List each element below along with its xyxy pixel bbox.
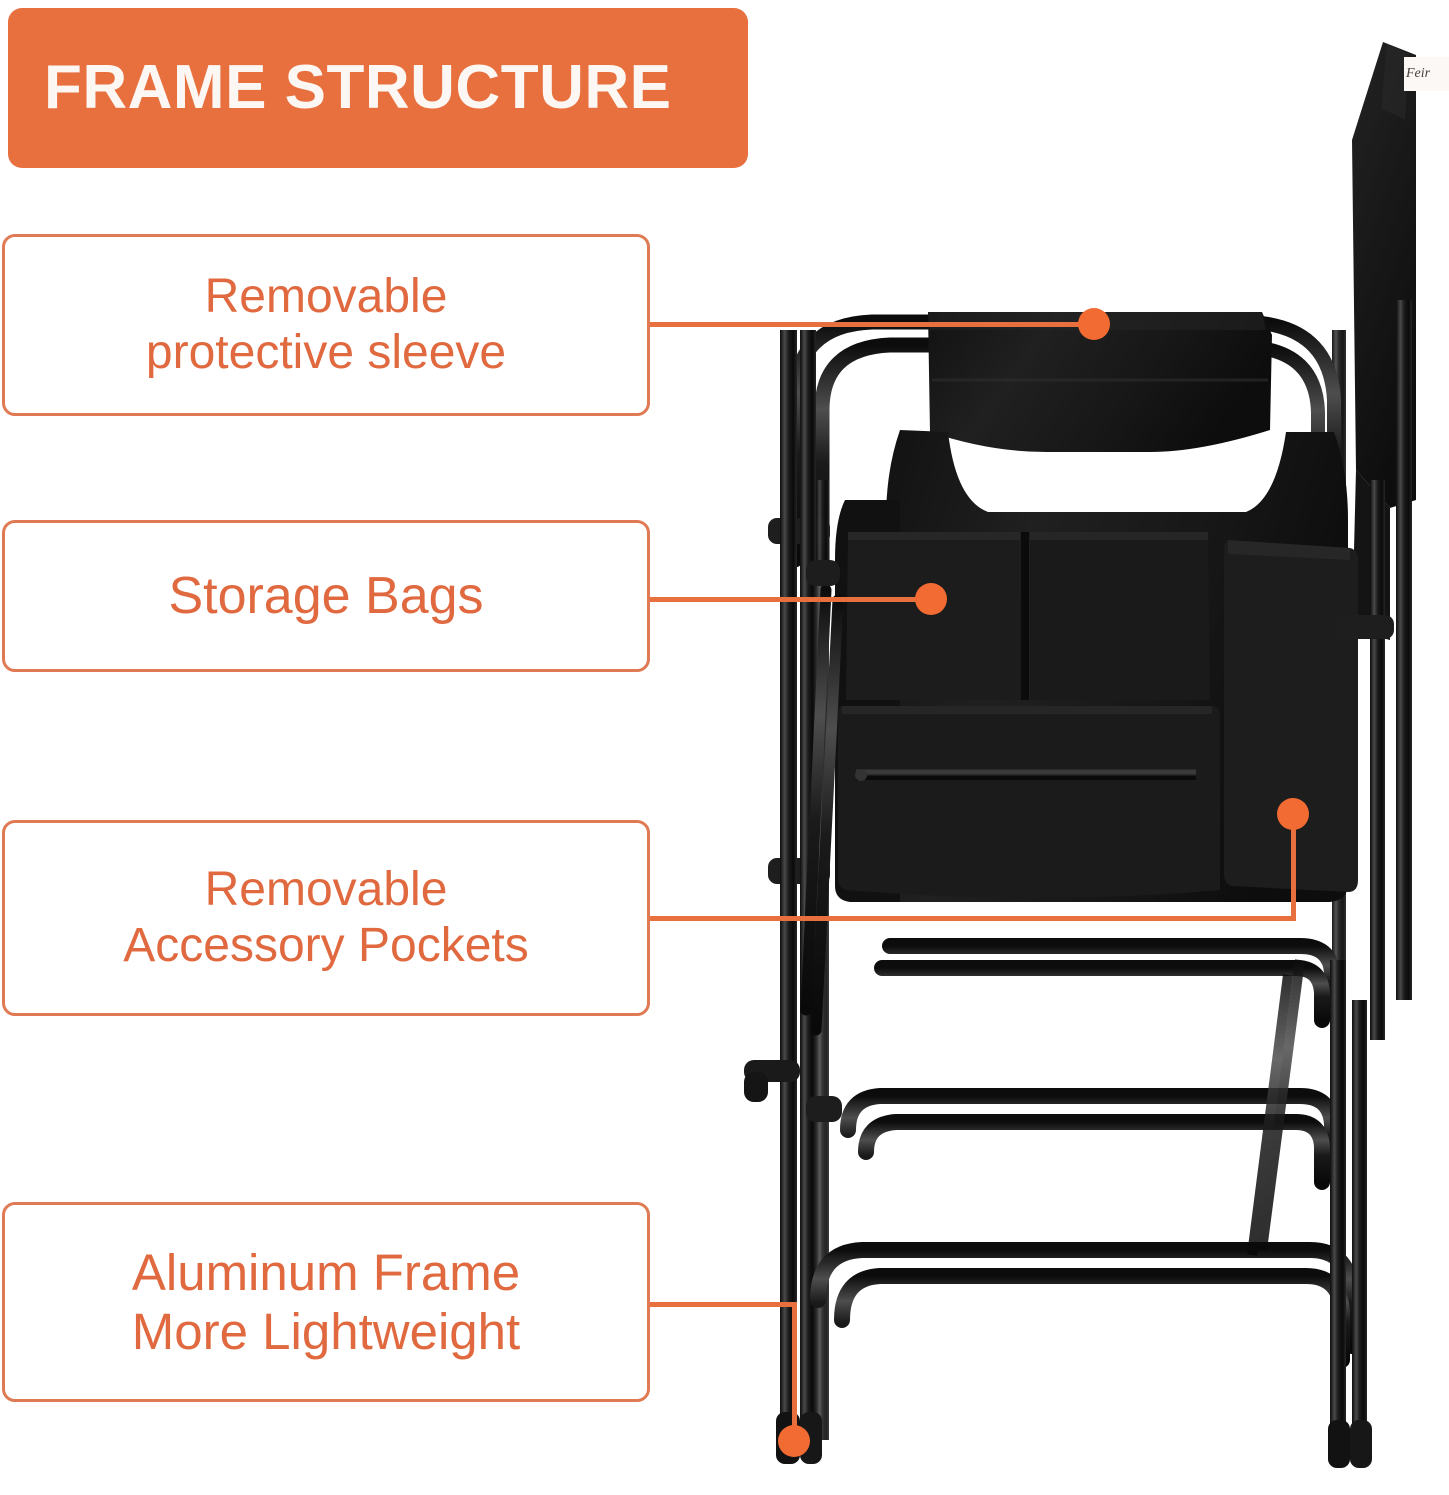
brand-tag-text: Feir [1404, 66, 1430, 82]
zippered-front-pocket [838, 706, 1220, 898]
infographic-page: Feir FRAME STRUCTURE Removable protectiv… [0, 0, 1449, 1495]
callout-storage-bags: Storage Bags [2, 520, 650, 672]
leader-line-2-vertical [1291, 818, 1296, 921]
leader-line-3-vertical [792, 1302, 797, 1444]
chair-frame-rungs [818, 946, 1352, 1360]
callout-label-3: Aluminum Frame More Lightweight [114, 1243, 538, 1361]
storage-bags-upper-pockets [846, 532, 1210, 700]
callout-removable-accessory-pockets: Removable Accessory Pockets [2, 820, 650, 1016]
callout-removable-protective-sleeve: Removable protective sleeve [2, 234, 650, 416]
chair-rear-backrest-panel [1352, 42, 1416, 640]
chair-armrest-hoops [795, 322, 1248, 560]
leader-line-2-horizontal [650, 916, 1296, 921]
leader-line-3-horizontal [650, 1302, 797, 1307]
brand-tag: Feir [1404, 57, 1449, 91]
leader-line-0 [650, 322, 1093, 327]
chair-hinge-knobs [744, 560, 842, 1122]
callout-label-2: Removable Accessory Pockets [105, 862, 546, 973]
title-banner: FRAME STRUCTURE [8, 8, 748, 168]
leader-dot-1 [915, 583, 947, 615]
leader-dot-2 [1277, 798, 1309, 830]
chair-side-straps [768, 518, 1394, 884]
leader-line-1 [650, 597, 934, 602]
leader-dot-0 [1078, 308, 1110, 340]
chair-back-fabric-body [835, 430, 1348, 902]
callout-label-1: Storage Bags [150, 566, 501, 626]
callout-label-0: Removable protective sleeve [128, 269, 524, 380]
callout-aluminum-frame: Aluminum Frame More Lightweight [2, 1202, 650, 1402]
chair-foot-caps [776, 1412, 1372, 1468]
leader-dot-3 [778, 1425, 810, 1457]
page-title: FRAME STRUCTURE [44, 57, 671, 119]
